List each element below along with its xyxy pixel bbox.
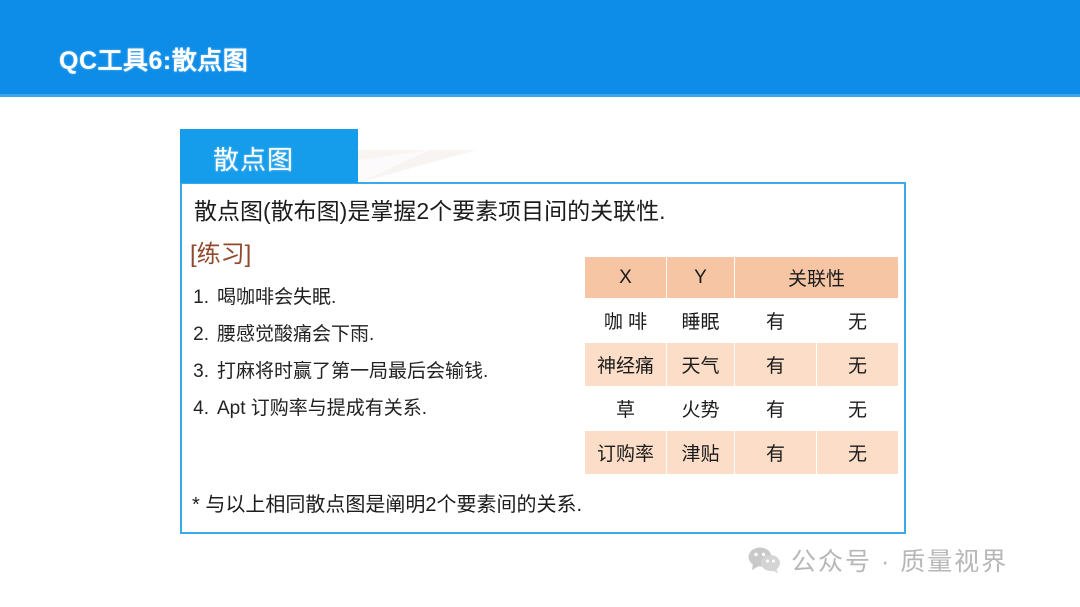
table-body: 咖 啡 睡眠 有 无 神经痛 天气 有 无 草 火势 有 无 订购率 津贴 有: [585, 299, 899, 475]
table-row: 订购率 津贴 有 无: [585, 431, 899, 475]
cell-x: 订购率: [585, 431, 667, 475]
cell-y: 津贴: [667, 431, 735, 475]
cell-x: 神经痛: [585, 343, 667, 387]
cell-yes[interactable]: 有: [735, 299, 817, 343]
practice-heading: [练习]: [190, 234, 251, 269]
column-header-correlation: 关联性: [735, 257, 899, 299]
list-item-label: 打麻将时赢了第一局最后会输钱.: [217, 356, 488, 383]
cell-y: 火势: [667, 387, 735, 431]
cell-yes[interactable]: 有: [735, 343, 817, 387]
content-box: 散点图(散布图)是掌握2个要素项目间的关联性. [练习] 1. 喝咖啡会失眠. …: [180, 182, 906, 534]
cell-yes[interactable]: 有: [735, 387, 817, 431]
list-item-label: Apt 订购率与提成有关系.: [217, 393, 427, 420]
column-header-y: Y: [667, 257, 735, 299]
section-tab-label: 散点图: [213, 140, 294, 177]
cell-no[interactable]: 无: [817, 387, 899, 431]
list-item-label: 腰感觉酸痛会下雨.: [217, 319, 374, 346]
cell-x: 咖 啡: [585, 299, 667, 343]
cell-y: 睡眠: [667, 299, 735, 343]
footer-note: * 与以上相同散点图是阐明2个要素间的关系.: [192, 488, 582, 517]
list-item-number: 3.: [190, 361, 217, 383]
table-row: 草 火势 有 无: [585, 387, 899, 431]
table-row: 神经痛 天气 有 无: [585, 343, 899, 387]
page-title: QC工具6:散点图: [59, 41, 248, 77]
exercise-list: 1. 喝咖啡会失眠. 2. 腰感觉酸痛会下雨. 3. 打麻将时赢了第一局最后会输…: [190, 282, 590, 430]
table-header: X Y 关联性: [585, 257, 899, 299]
list-item-number: 4.: [190, 398, 217, 420]
cell-y: 天气: [667, 343, 735, 387]
list-item: 3. 打麻将时赢了第一局最后会输钱.: [190, 356, 590, 393]
watermark: 公众号 · 质量视界: [748, 542, 1008, 578]
list-item-number: 2.: [190, 324, 217, 346]
cell-no[interactable]: 无: [817, 431, 899, 475]
list-item-label: 喝咖啡会失眠.: [217, 282, 336, 309]
list-item: 1. 喝咖啡会失眠.: [190, 282, 590, 319]
watermark-label: 公众号 · 质量视界: [791, 542, 1008, 578]
column-header-x: X: [585, 257, 667, 299]
wechat-icon: [748, 546, 782, 574]
cell-yes[interactable]: 有: [735, 431, 817, 475]
page-header-band: QC工具6:散点图: [0, 0, 1080, 97]
relation-table: X Y 关联性 咖 啡 睡眠 有 无 神经痛 天气 有 无 草 火势 有: [584, 256, 899, 475]
definition-line: 散点图(散布图)是掌握2个要素项目间的关联性.: [194, 192, 666, 226]
cell-x: 草: [585, 387, 667, 431]
cell-no[interactable]: 无: [817, 343, 899, 387]
list-item: 2. 腰感觉酸痛会下雨.: [190, 319, 590, 356]
list-item-number: 1.: [190, 287, 217, 309]
cell-no[interactable]: 无: [817, 299, 899, 343]
ribbon-fold-decoration: [358, 150, 478, 184]
section-tab: 散点图: [180, 129, 358, 183]
list-item: 4. Apt 订购率与提成有关系.: [190, 393, 590, 430]
table-header-row: X Y 关联性: [585, 257, 899, 299]
table-row: 咖 啡 睡眠 有 无: [585, 299, 899, 343]
